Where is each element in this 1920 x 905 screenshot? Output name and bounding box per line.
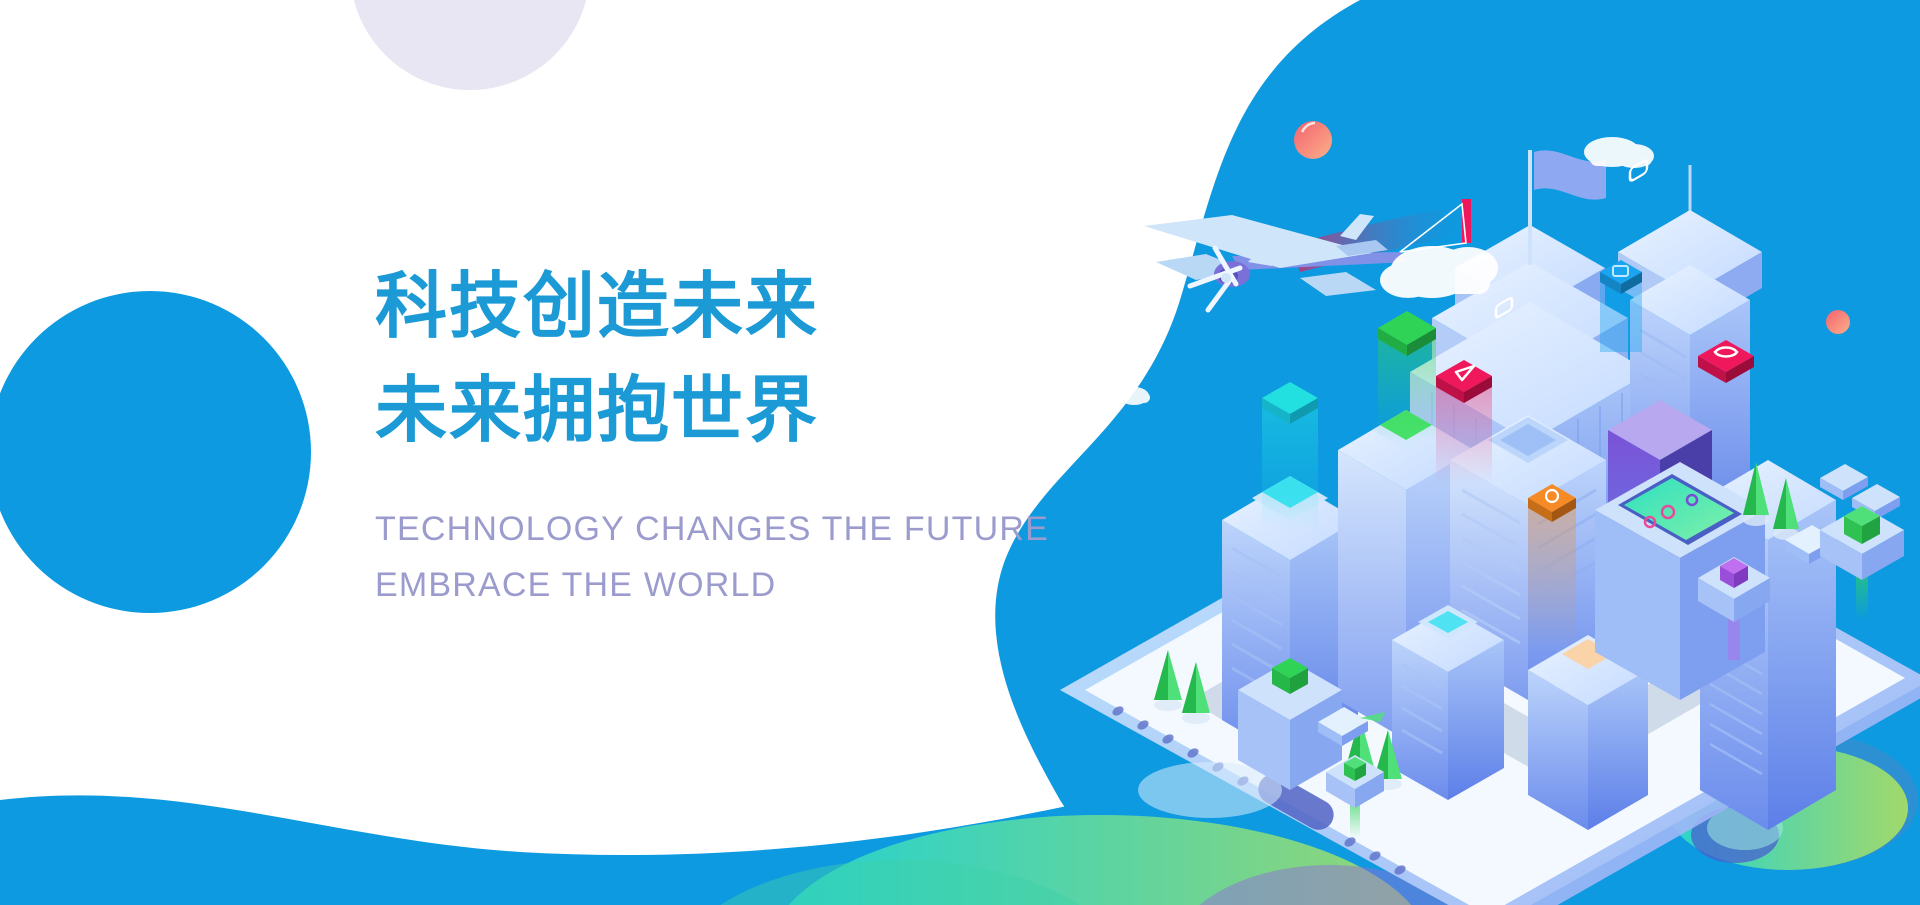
app-icon-orange [1528,484,1576,650]
banner-illustration [0,0,1920,905]
balloon-small [1826,310,1850,334]
banner-stage: 科技创造未来 未来拥抱世界 TECHNOLOGY CHANGES THE FUT… [0,0,1920,905]
app-icon-blue [1600,260,1642,352]
decorative-circle-blue [0,291,311,613]
app-icon-pink [1436,360,1492,484]
balloon [1294,121,1332,159]
